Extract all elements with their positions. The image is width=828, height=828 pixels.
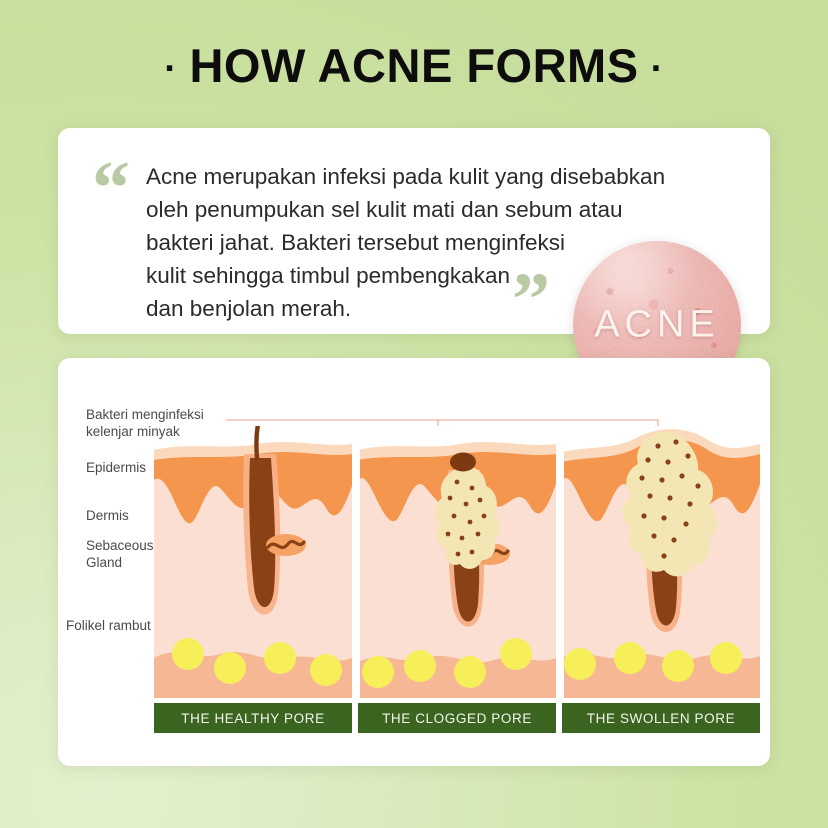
label-hair-follicle: Folikel rambut (66, 617, 151, 634)
panel-clogged-art (358, 426, 556, 698)
label-bacteria: Bakteri menginfeksi kelenjar minyak (86, 406, 204, 440)
quote-line: oleh penumpukan sel kulit mati dan sebum… (146, 193, 706, 226)
label-dermis: Dermis (86, 507, 129, 524)
skin-diagram: Bakteri menginfeksi kelenjar minyak Epid… (58, 358, 770, 766)
caption-healthy-pore: THE HEALTHY PORE (154, 703, 352, 733)
caption-clogged-pore: THE CLOGGED PORE (358, 703, 556, 733)
panel-divider (352, 426, 360, 700)
title-bullet-right: · (651, 48, 664, 90)
title-text: HOW ACNE FORMS (189, 39, 638, 92)
page-title: ·HOW ACNE FORMS· (0, 38, 828, 93)
caption-swollen-pore: THE SWOLLEN PORE (562, 703, 760, 733)
panel-swollen-art (562, 426, 760, 698)
label-sebaceous-gland: Sebaceous Gland (86, 537, 154, 571)
acne-photo-label: ACNE (573, 304, 741, 347)
panel-divider (556, 426, 564, 700)
title-bullet-left: · (164, 48, 177, 90)
infographic-root: ·HOW ACNE FORMS· “ ” Acne merupakan infe… (0, 0, 828, 828)
quote-open-icon: “ (92, 150, 130, 226)
label-epidermis: Epidermis (86, 459, 146, 476)
quote-line: Acne merupakan infeksi pada kulit yang d… (146, 160, 706, 193)
